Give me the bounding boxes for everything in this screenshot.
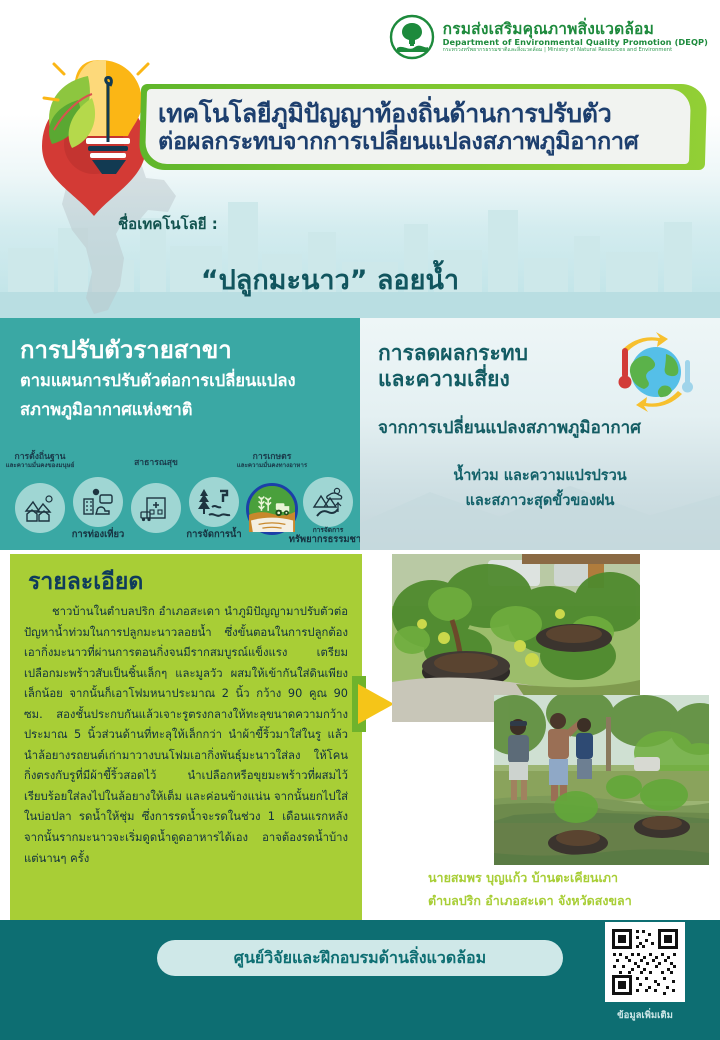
sector-item-settlement[interactable]: การตั้งถิ่นฐาน และความมั่นคงของมนุษย์ [12, 483, 68, 533]
sector-item-tourism[interactable]: การท่องเที่ยว [70, 477, 126, 527]
sector-sublabel-agriculture: และความมั่นคงทางอาหาร [216, 463, 328, 470]
sector-sublabel-natural-resources: ทรัพยากรธรรมชาติ [289, 534, 368, 545]
details-section: รายละเอียด ชาวบ้านในตำบลปริก อำเภอสะเดา … [10, 554, 362, 920]
place-label: สถานที่ : [368, 872, 422, 894]
adaptation-title: การปรับตัวรายสาขา [20, 336, 346, 365]
main-title-line-2: ต่อผลกระทบจากการเปลี่ยนแปลงสภาพภูมิอากาศ [158, 128, 686, 154]
details-title: รายละเอียด [28, 564, 143, 600]
mitigation-risk-line-1: น้ำท่วม และความแปรปรวน [360, 464, 720, 489]
details-body-text: ชาวบ้านในตำบลปริก อำเภอสะเดา นำภูมิปัญญา… [24, 602, 348, 914]
mitigation-title-line-2: และความเสี่ยง [378, 366, 588, 392]
place-value: นายสมพร บุญแก้ว บ้านตะเคียนเภา ตำบลปริก … [428, 866, 698, 912]
mitigation-subtitle: จากการเปลี่ยนแปลงสภาพภูมิอากาศ [378, 414, 708, 441]
sector-label-agriculture: การเกษตร [253, 452, 292, 462]
adaptation-panel: การปรับตัวรายสาขา ตามแผนการปรับตัวต่อการ… [0, 318, 360, 550]
mitigation-panel: การลดผลกระทบ และความเสี่ยง จากการเปลี่ยน… [360, 318, 720, 550]
tourism-icon [73, 477, 123, 527]
water-management-icon [189, 477, 239, 527]
person-3 [576, 718, 593, 779]
technology-name-label: ชื่อเทคโนโลยี : [118, 212, 218, 236]
main-title-banner: เทคโนโลยีภูมิปัญญาท้องถิ่นด้านการปรับตัว… [140, 84, 706, 170]
red-thermometer [619, 348, 632, 389]
logo-ministry-line: กระทรวงทรัพยากรธรรมชาติและสิ่งแวดล้อม | … [443, 48, 708, 53]
public-health-icon [131, 483, 181, 533]
place-line-2: ตำบลปริก อำเภอสะเดา จังหวัดสงขลา [428, 889, 698, 912]
adaptation-subtitle-1: ตามแผนการปรับตัวต่อการเปลี่ยนแปลง [20, 369, 346, 394]
sector-label-settlement: การตั้งถิ่นฐาน [15, 452, 66, 462]
sector-icons-row: การตั้งถิ่นฐาน และความมั่นคงของมนุษย์ [0, 445, 360, 550]
logo-english-name: Department of Environmental Quality Prom… [443, 38, 708, 47]
info-band: การปรับตัวรายสาขา ตามแผนการปรับตัวต่อการ… [0, 318, 720, 550]
sector-label-public-health: สาธารณสุข [134, 458, 178, 468]
sector-sublabel-settlement: และความมั่นคงของมนุษย์ [0, 463, 96, 470]
sector-item-natural-resources[interactable]: การจัดการ ทรัพยากรธรรมชาติ [300, 477, 356, 527]
pointer-arrow-icon [352, 676, 396, 732]
natural-resources-icon [303, 477, 353, 527]
deqp-emblem-icon [389, 14, 435, 60]
mitigation-title-line-1: การลดผลกระทบ [378, 340, 588, 366]
sector-label-water-management: การจัดการน้ำ [186, 529, 241, 540]
organization-pill: ศูนย์วิจัยและฝึกอบรมด้านสิ่งแวดล้อม [157, 940, 563, 976]
main-title-line-1: เทคโนโลยีภูมิปัญญาท้องถิ่นด้านการปรับตัว [158, 100, 686, 128]
qr-code[interactable] [605, 922, 685, 1002]
logo-thai-name: กรมส่งเสริมคุณภาพสิ่งแวดล้อม [443, 21, 708, 37]
sector-item-public-health[interactable]: สาธารณสุข [128, 483, 184, 533]
qr-code-icon [610, 927, 680, 997]
qr-caption: ข้อมูลเพิ่มเติม [595, 1008, 695, 1023]
place-line-1: นายสมพร บุญแก้ว บ้านตะเคียนเภา [428, 866, 698, 889]
deqp-logo-block: กรมส่งเสริมคุณภาพสิ่งแวดล้อม Department … [389, 14, 708, 60]
villagers-at-fish-pond-photo [494, 695, 709, 865]
blue-thermometer [682, 360, 693, 393]
technology-name-value: “ปลูกมะนาว” ลอยน้ำ [0, 258, 660, 301]
sector-label-tourism: การท่องเที่ยว [72, 529, 125, 540]
poster-root: กรมส่งเสริมคุณภาพสิ่งแวดล้อม Department … [0, 0, 720, 1040]
adaptation-subtitle-2: สภาพภูมิอากาศแห่งชาติ [20, 398, 346, 423]
poster-header: กรมส่งเสริมคุณภาพสิ่งแวดล้อม Department … [0, 0, 720, 318]
settlement-icon [15, 483, 65, 533]
globe-thermometer-icon [600, 332, 700, 416]
sector-item-water-management[interactable]: การจัดการน้ำ [186, 477, 242, 527]
mitigation-risk-line-2: และสภาวะสุดขั้วของฝน [360, 489, 720, 514]
